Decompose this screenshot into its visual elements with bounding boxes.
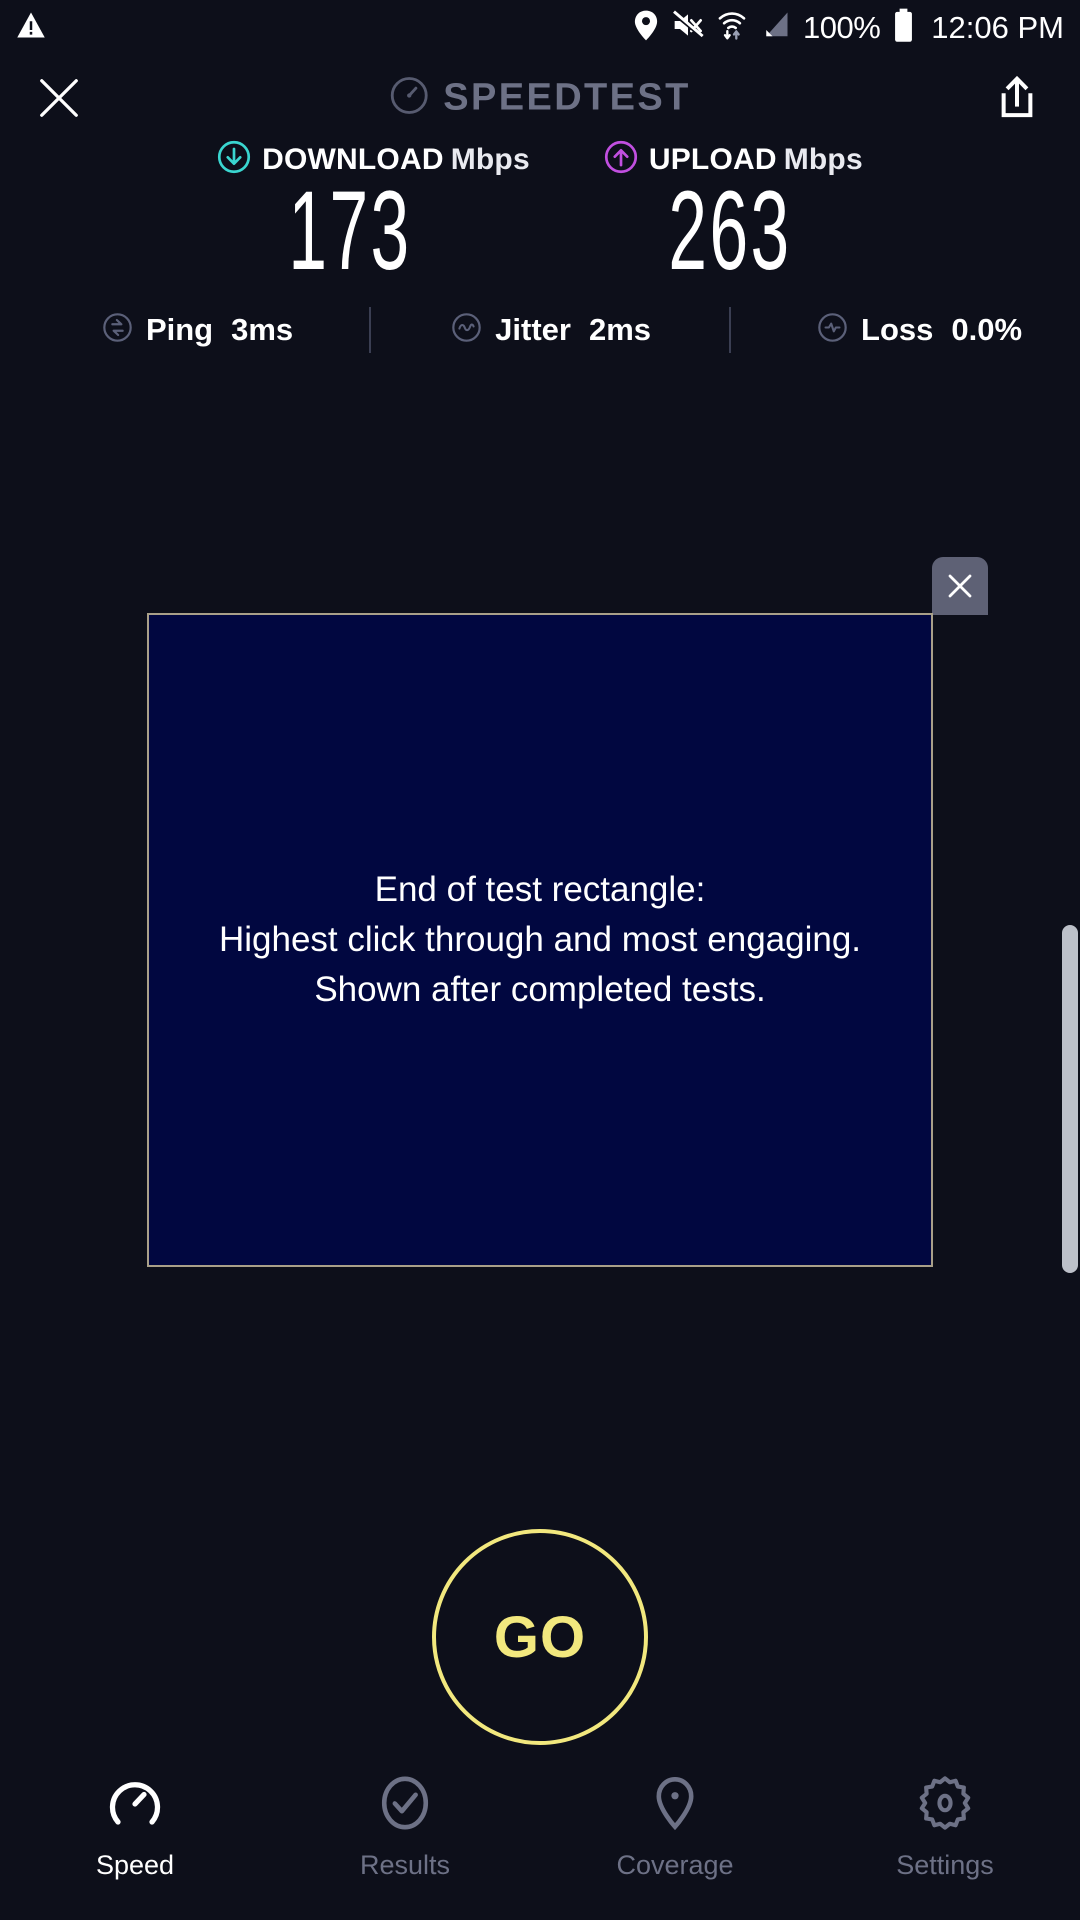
ad-banner[interactable]: End of test rectangle: Highest click thr… (147, 613, 933, 1267)
jitter-icon (451, 312, 482, 348)
download-value: 173 (232, 175, 468, 287)
close-icon (945, 571, 975, 601)
metric-ping-value: 3ms (231, 312, 293, 348)
metric-loss-value: 0.0% (951, 312, 1022, 348)
nav-item-settings[interactable]: Settings (810, 1770, 1080, 1881)
wifi-icon (717, 9, 747, 46)
metric-loss: Loss 0.0% (817, 312, 1022, 348)
metric-ping: Ping 3ms (102, 312, 293, 348)
close-button[interactable] (32, 71, 86, 125)
speedometer-icon (389, 76, 429, 121)
brand-logo: SPEEDTEST (389, 76, 691, 121)
ad-text: End of test rectangle: Highest click thr… (201, 865, 879, 1014)
location-pin-icon (633, 10, 659, 46)
go-button-wrap: GO (432, 1529, 648, 1745)
speed-results-panel: DOWNLOADMbps UPLOADMbps 173 263 (0, 140, 1080, 287)
vertical-scrollbar-thumb[interactable] (1062, 925, 1078, 1273)
go-button[interactable]: GO (432, 1529, 648, 1745)
speedometer-icon (105, 1770, 165, 1836)
ad-line-3: Shown after completed tests. (219, 965, 861, 1015)
advertisement: End of test rectangle: Highest click thr… (147, 613, 933, 1267)
check-circle-icon (376, 1770, 434, 1836)
map-pin-icon (646, 1770, 704, 1836)
loss-icon (817, 312, 848, 348)
metric-divider (729, 307, 731, 353)
ad-close-button[interactable] (932, 557, 988, 615)
upload-arrow-icon (604, 140, 638, 179)
ad-line-1: End of test rectangle: (219, 865, 861, 915)
metrics-row: Ping 3ms Jitter 2ms (0, 295, 1080, 365)
nav-label-speed: Speed (96, 1850, 174, 1881)
speed-values-row: 173 263 (0, 175, 1080, 287)
metric-jitter: Jitter 2ms (451, 312, 651, 348)
ping-icon (102, 312, 133, 348)
nav-label-coverage: Coverage (616, 1850, 733, 1881)
metric-loss-label: Loss (861, 312, 933, 348)
nav-label-settings: Settings (896, 1850, 994, 1881)
metric-jitter-value: 2ms (589, 312, 651, 348)
metric-jitter-label: Jitter (495, 312, 571, 348)
app-title: SPEEDTEST (443, 77, 691, 120)
status-bar-clock: 12:06 PM (931, 10, 1064, 46)
status-bar-right: 100% 12:06 PM (633, 8, 1064, 48)
go-button-label: GO (494, 1604, 586, 1671)
gear-icon (916, 1770, 974, 1836)
close-icon (36, 75, 82, 121)
metric-divider (369, 307, 371, 353)
volume-mute-icon (672, 10, 704, 45)
bottom-navigation: Speed Results Coverage (0, 1758, 1080, 1920)
nav-label-results: Results (360, 1850, 450, 1881)
status-bar-left (16, 11, 46, 44)
metric-ping-label: Ping (146, 312, 213, 348)
share-button[interactable] (990, 71, 1044, 125)
nav-item-speed[interactable]: Speed (0, 1770, 270, 1881)
battery-full-icon (893, 8, 914, 48)
speed-labels-row: DOWNLOADMbps UPLOADMbps (0, 140, 1080, 179)
speedtest-app-screen: 100% 12:06 PM SP (0, 0, 1080, 1920)
download-arrow-icon (217, 140, 251, 179)
upload-value: 263 (612, 175, 848, 287)
app-header: SPEEDTEST (0, 62, 1080, 134)
nav-item-coverage[interactable]: Coverage (540, 1770, 810, 1881)
nav-item-results[interactable]: Results (270, 1770, 540, 1881)
battery-percent: 100% (803, 10, 880, 46)
share-icon (996, 75, 1038, 121)
ad-line-2: Highest click through and most engaging. (219, 915, 861, 965)
cellular-signal-icon (760, 11, 790, 44)
status-bar: 100% 12:06 PM (0, 0, 1080, 55)
warning-triangle-icon (16, 11, 46, 44)
